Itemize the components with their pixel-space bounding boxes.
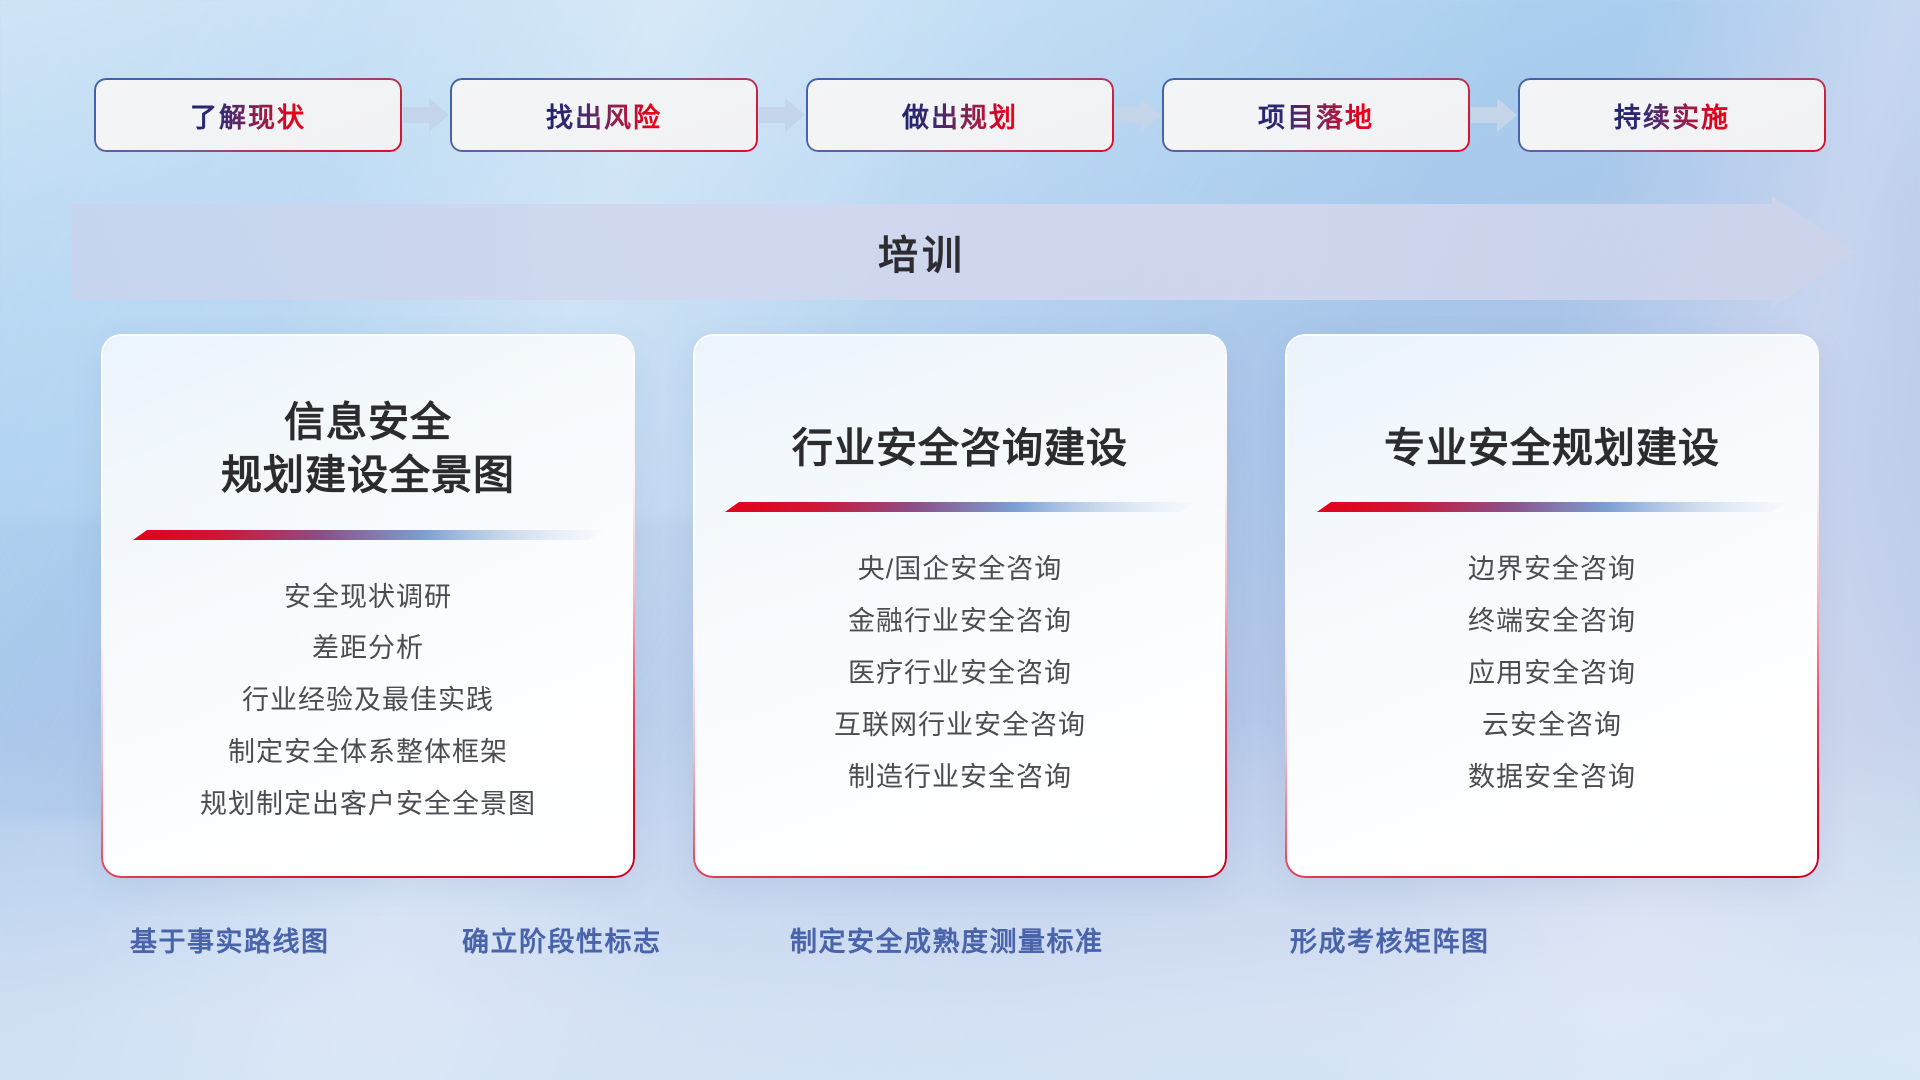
gradient-divider-icon xyxy=(1317,501,1787,515)
training-banner: 培训 xyxy=(72,196,1856,308)
process-step-row: 了解现状 找出风险 做出规划 项目落地 持续实施 xyxy=(0,76,1920,154)
footer-label-1: 基于事实路线图 xyxy=(130,920,330,959)
card-list-item: 差距分析 xyxy=(312,628,424,670)
card-list-item: 医疗行业安全咨询 xyxy=(848,653,1072,695)
footer-label-4: 形成考核矩阵图 xyxy=(1290,920,1490,959)
training-banner-label: 培训 xyxy=(72,196,1772,308)
card-list-3: 边界安全咨询 终端安全咨询 应用安全咨询 云安全咨询 数据安全咨询 xyxy=(1317,549,1787,798)
card-list-item: 制造行业安全咨询 xyxy=(848,757,1072,799)
step-box-5[interactable]: 持续实施 xyxy=(1520,80,1824,150)
card-industry-security-consulting[interactable]: 行业安全咨询建设 xyxy=(695,336,1225,876)
step-box-4[interactable]: 项目落地 xyxy=(1164,80,1468,150)
card-list-1: 安全现状调研 差距分析 行业经验及最佳实践 制定安全体系整体框架 规划制定出客户… xyxy=(133,577,603,826)
card-list-item: 制定安全体系整体框架 xyxy=(228,732,508,774)
step-arrow-icon-2 xyxy=(756,76,808,154)
card-title-1: 信息安全 规划建设全景图 xyxy=(221,360,515,503)
footer-label-2: 确立阶段性标志 xyxy=(462,920,662,959)
step-label-4: 项目落地 xyxy=(1258,96,1374,135)
step-label-3: 做出规划 xyxy=(902,96,1018,135)
card-list-2: 央/国企安全咨询 金融行业安全咨询 医疗行业安全咨询 互联网行业安全咨询 制造行… xyxy=(725,549,1195,798)
step-arrow-icon-1 xyxy=(400,76,452,154)
card-information-security-blueprint[interactable]: 信息安全 规划建设全景图 xyxy=(103,336,633,876)
card-list-item: 行业经验及最佳实践 xyxy=(242,680,494,722)
step-label-5: 持续实施 xyxy=(1614,96,1730,135)
card-list-item: 互联网行业安全咨询 xyxy=(834,705,1086,747)
step-label-1: 了解现状 xyxy=(190,96,306,135)
card-list-item: 应用安全咨询 xyxy=(1468,653,1636,695)
gradient-divider-icon xyxy=(133,529,603,543)
card-list-item: 数据安全咨询 xyxy=(1468,757,1636,799)
card-title-3-line-1: 专业安全规划建设 xyxy=(1384,422,1720,475)
step-box-3[interactable]: 做出规划 xyxy=(808,80,1112,150)
card-divider-1 xyxy=(133,529,603,543)
card-list-item: 金融行业安全咨询 xyxy=(848,601,1072,643)
card-title-2: 行业安全咨询建设 xyxy=(792,360,1128,475)
step-label-2: 找出风险 xyxy=(546,96,662,135)
card-list-item: 央/国企安全咨询 xyxy=(858,549,1063,591)
card-title-2-line-1: 行业安全咨询建设 xyxy=(792,422,1128,475)
step-box-1[interactable]: 了解现状 xyxy=(96,80,400,150)
card-professional-security-planning[interactable]: 专业安全规划建设 xyxy=(1287,336,1817,876)
card-list-item: 边界安全咨询 xyxy=(1468,549,1636,591)
step-arrow-icon-3 xyxy=(1112,76,1164,154)
card-list-item: 安全现状调研 xyxy=(284,577,452,619)
gradient-divider-icon xyxy=(725,501,1195,515)
card-divider-3 xyxy=(1317,501,1787,515)
card-title-3: 专业安全规划建设 xyxy=(1384,360,1720,475)
card-list-item: 终端安全咨询 xyxy=(1468,601,1636,643)
card-divider-2 xyxy=(725,501,1195,515)
step-arrow-icon-4 xyxy=(1468,76,1520,154)
card-row: 信息安全 规划建设全景图 xyxy=(0,336,1920,876)
card-title-1-line-1: 信息安全 xyxy=(221,396,515,449)
footer-label-row: 基于事实路线图 确立阶段性标志 制定安全成熟度测量标准 形成考核矩阵图 xyxy=(0,920,1920,980)
card-list-item: 规划制定出客户安全全景图 xyxy=(200,784,536,826)
footer-label-3: 制定安全成熟度测量标准 xyxy=(790,920,1104,959)
step-box-2[interactable]: 找出风险 xyxy=(452,80,756,150)
card-list-item: 云安全咨询 xyxy=(1482,705,1622,747)
card-title-1-line-2: 规划建设全景图 xyxy=(221,449,515,502)
